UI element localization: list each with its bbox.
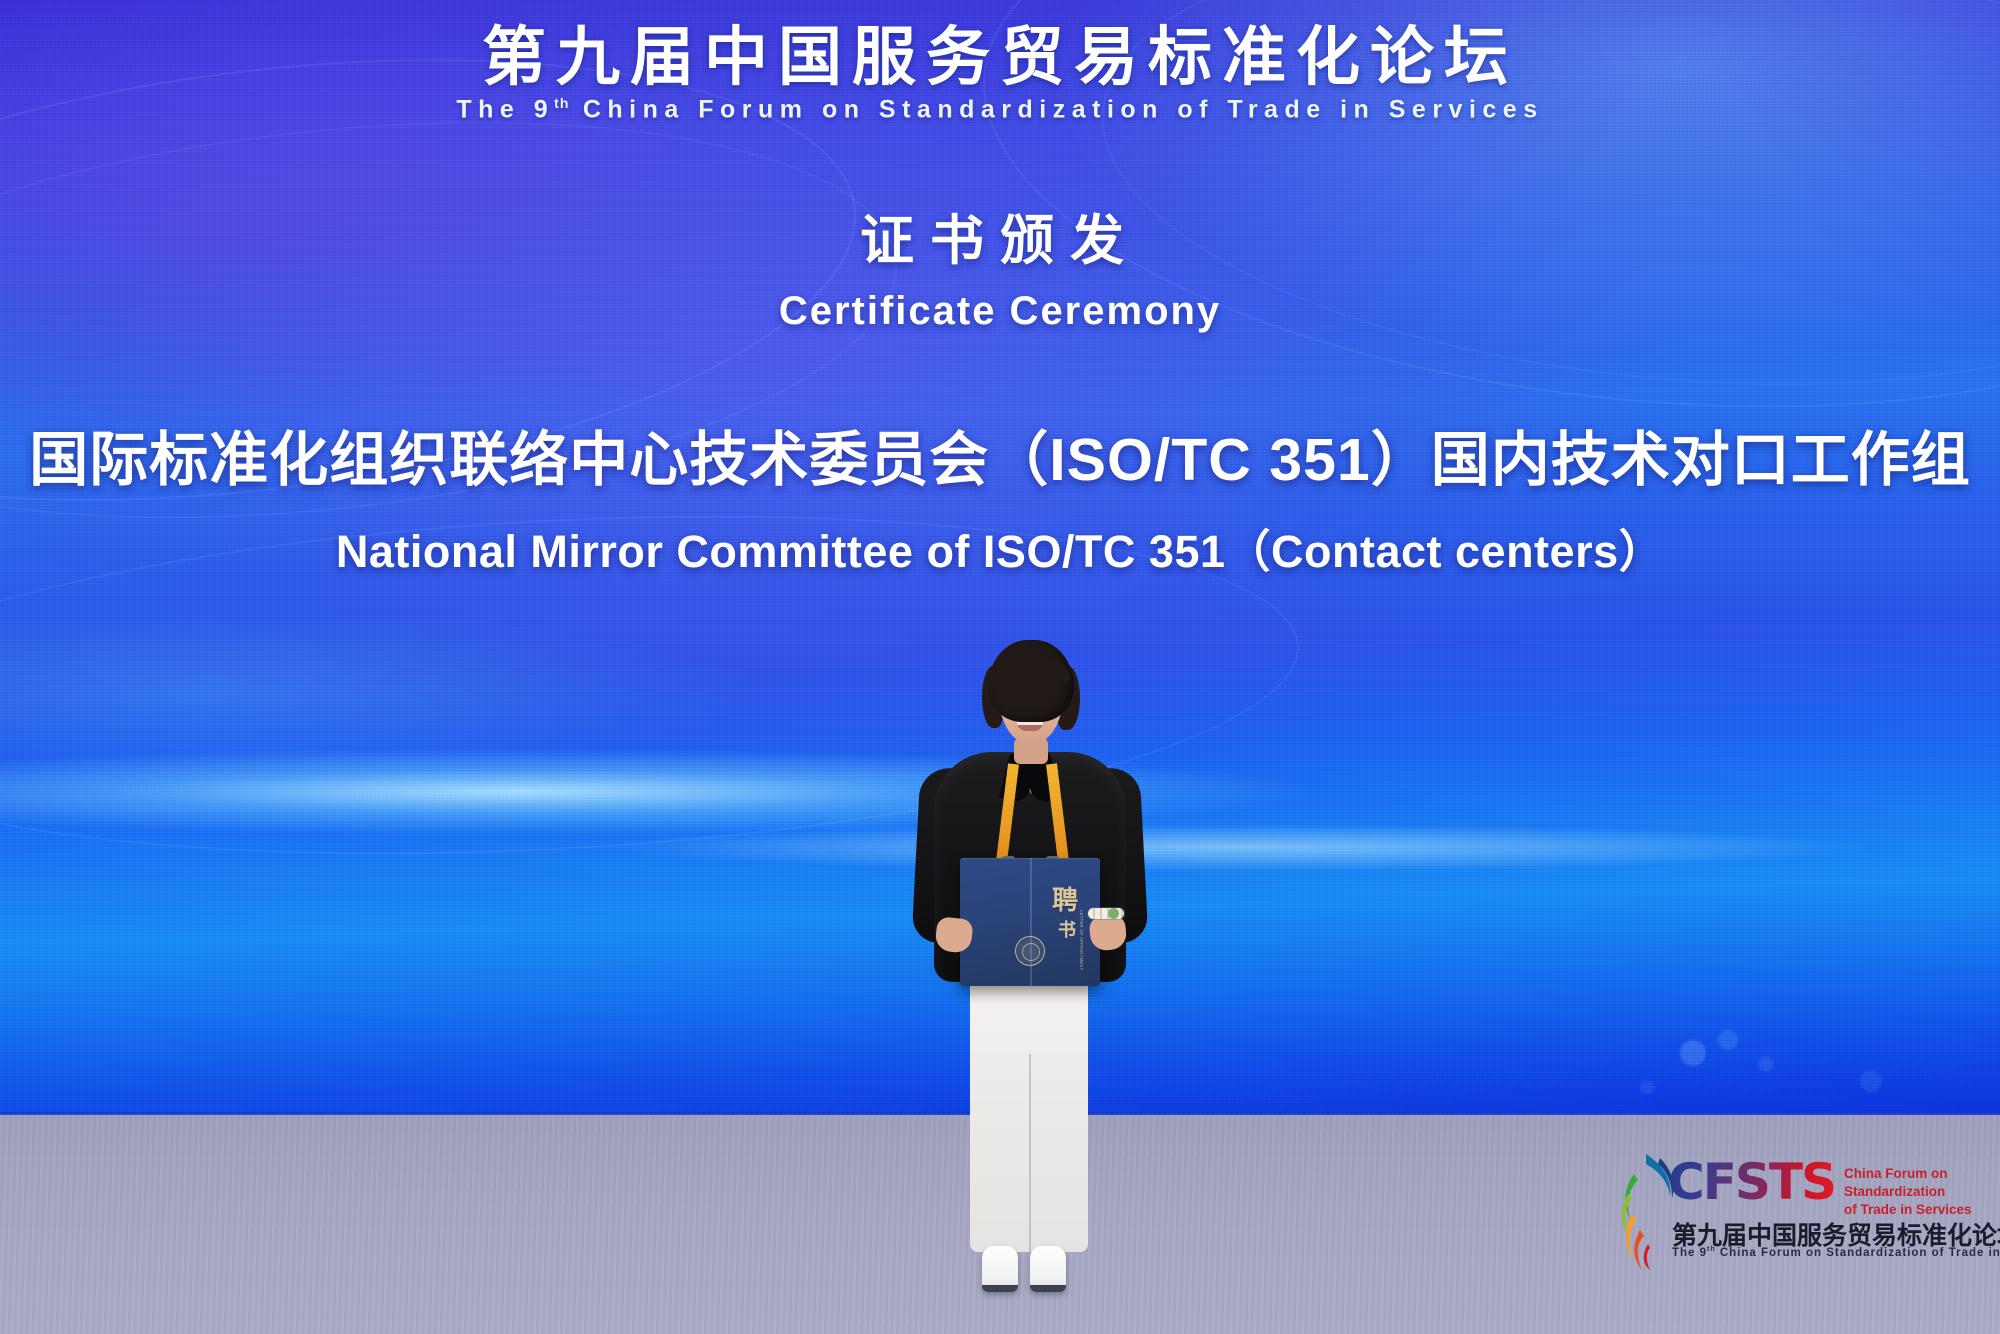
certificate-subtext: LETTER OF APPOINTMENT	[1074, 910, 1084, 971]
right-shoe	[1030, 1246, 1066, 1292]
shoe-sole	[982, 1285, 1018, 1292]
shoe-sole	[1030, 1285, 1066, 1292]
certificate-spine	[1030, 858, 1032, 986]
cfsts-wordmark-row: CFSTS China Forum on Standardization of …	[1668, 1158, 1972, 1220]
cfsts-name-english: The 9th China Forum on Standardization o…	[1672, 1246, 2000, 1259]
bokeh-dot	[1640, 1080, 1654, 1094]
certificate-seal-emblem	[1015, 936, 1045, 966]
cfsts-tagline: China Forum on Standardization of Trade …	[1844, 1165, 1972, 1220]
backdrop-wave-2	[0, 71, 917, 569]
award-recipient-person: 聘 书 LETTER OF APPOINTMENT	[900, 640, 1160, 1300]
bokeh-dot	[1680, 1040, 1706, 1066]
bokeh-dot	[1860, 1070, 1882, 1092]
backdrop-wave-3	[956, 0, 2000, 467]
backdrop-wave-1	[0, 0, 881, 562]
trouser-seam	[1029, 1054, 1031, 1252]
cfsts-name-ordinal-suffix: th	[1707, 1246, 1716, 1253]
cfsts-name-english-pre: The 9	[1672, 1247, 1707, 1259]
white-trousers	[970, 970, 1088, 1252]
stage-photo: 第九届中国服务贸易标准化论坛 The 9th China Forum on St…	[0, 0, 2000, 1334]
certificate-folder: 聘 书 LETTER OF APPOINTMENT	[960, 858, 1100, 986]
bokeh-dot	[1718, 1030, 1738, 1050]
cfsts-name-english-post: China Forum on Standardization of Trade …	[1716, 1247, 2000, 1259]
cfsts-logo: CFSTS China Forum on Standardization of …	[1620, 1152, 1950, 1282]
bokeh-dot	[1758, 1056, 1774, 1072]
backdrop-wave-4	[1083, 0, 2000, 429]
hair-fringe	[992, 656, 1070, 686]
left-shoe	[982, 1246, 1018, 1292]
cfsts-wordmark: CFSTS	[1668, 1158, 1835, 1206]
bracelet-green-bead	[1108, 908, 1119, 919]
